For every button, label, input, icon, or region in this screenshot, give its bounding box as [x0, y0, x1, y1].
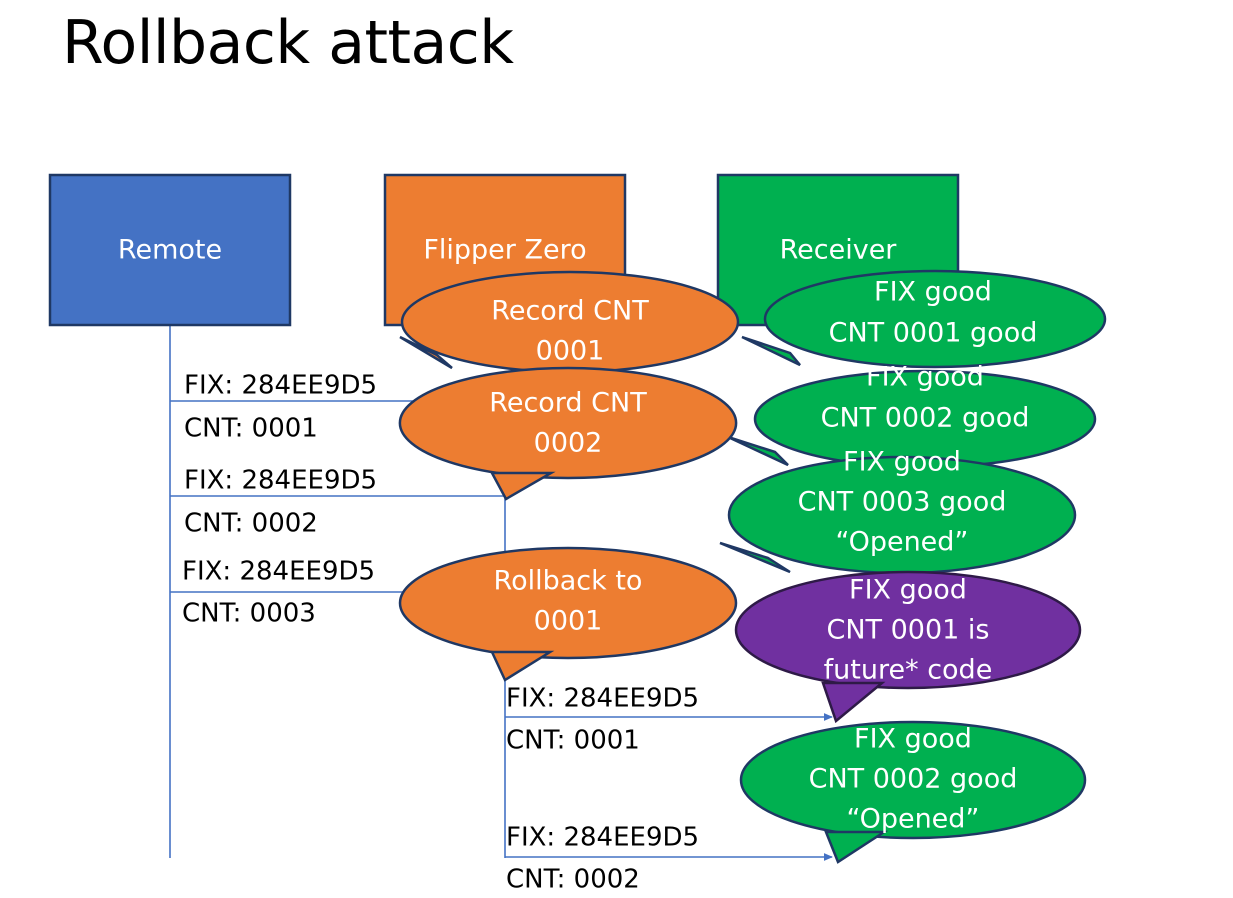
slide-canvas: Rollback attack — [0, 0, 1233, 898]
speech-bubble-record-cnt-0001[interactable]: Record CNT 0001 — [400, 272, 738, 372]
bubble-line-recv3-2: CNT 0003 good — [798, 487, 1007, 518]
bubble-line-flip3-1: Rollback to — [494, 566, 643, 597]
message-label-4: FIX: 284EE9D5 CNT: 0001 — [506, 684, 699, 756]
bubble-line-recv1-2: CNT 0001 good — [829, 318, 1038, 349]
message-2-cnt: CNT: 0002 — [184, 509, 318, 539]
bubble-line-recv2-2: CNT 0002 good — [821, 403, 1030, 434]
actor-label-remote: Remote — [118, 235, 222, 266]
message-5-cnt: CNT: 0002 — [506, 865, 640, 895]
rollback-attack-sequence-diagram: Remote Flipper Zero Receiver FIX good CN… — [0, 0, 1233, 898]
bubble-line-flip1-1: Record CNT — [491, 296, 649, 327]
actor-box-remote[interactable]: Remote — [50, 175, 290, 325]
bubble-line-recv2-1: FIX good — [866, 362, 984, 393]
bubble-line-recv5-1: FIX good — [854, 724, 972, 755]
message-2-fix: FIX: 284EE9D5 — [184, 466, 377, 496]
speech-bubble-recv-cnt-0003[interactable]: FIX good CNT 0003 good “Opened” — [720, 447, 1075, 574]
speech-bubble-recv-cnt-0002-opened[interactable]: FIX good CNT 0002 good “Opened” — [741, 722, 1085, 862]
bubble-line-recv4-1: FIX good — [849, 575, 967, 606]
message-1-fix: FIX: 284EE9D5 — [184, 371, 377, 401]
actor-label-flipper-zero: Flipper Zero — [423, 235, 586, 266]
bubble-line-recv4-2: CNT 0001 is — [827, 615, 990, 646]
bubble-line-recv5-2: CNT 0002 good — [809, 764, 1018, 795]
message-3-fix: FIX: 284EE9D5 — [182, 557, 375, 587]
speech-bubble-rollback-to-0001[interactable]: Rollback to 0001 — [400, 548, 736, 680]
speech-bubble-recv-future-code[interactable]: FIX good CNT 0001 is future* code — [736, 572, 1080, 721]
bubble-line-recv3-3: “Opened” — [836, 527, 969, 558]
bubble-line-recv3-1: FIX good — [843, 447, 961, 478]
message-label-5: FIX: 284EE9D5 CNT: 0002 — [506, 823, 699, 895]
bubble-line-recv5-3: “Opened” — [847, 804, 980, 835]
bubble-line-recv4-3: future* code — [824, 655, 993, 686]
bubble-line-flip2-2: 0002 — [534, 428, 603, 459]
message-4-fix: FIX: 284EE9D5 — [506, 684, 699, 714]
bubble-line-flip2-1: Record CNT — [489, 388, 647, 419]
message-3-cnt: CNT: 0003 — [182, 599, 316, 629]
actor-label-receiver: Receiver — [780, 235, 898, 266]
message-label-2: FIX: 284EE9D5 CNT: 0002 — [184, 466, 377, 539]
speech-bubble-record-cnt-0002[interactable]: Record CNT 0002 — [400, 368, 736, 499]
message-label-1: FIX: 284EE9D5 CNT: 0001 — [184, 371, 377, 444]
bubble-line-recv1-1: FIX good — [874, 277, 992, 308]
message-5-fix: FIX: 284EE9D5 — [506, 823, 699, 853]
bubble-line-flip1-2: 0001 — [536, 336, 605, 367]
message-4-cnt: CNT: 0001 — [506, 726, 640, 756]
bubble-line-flip3-2: 0001 — [534, 606, 603, 637]
message-1-cnt: CNT: 0001 — [184, 414, 318, 444]
